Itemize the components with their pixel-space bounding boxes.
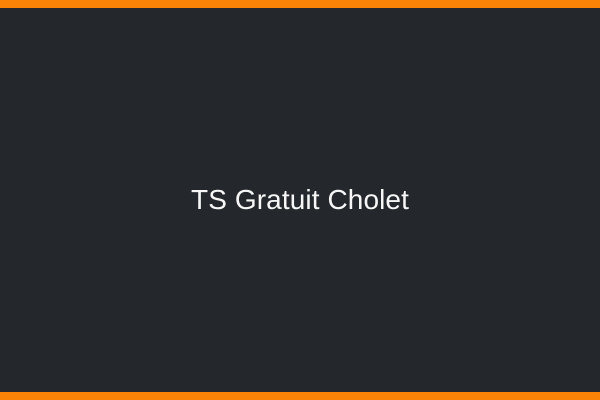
top-accent-bar bbox=[0, 0, 600, 8]
placeholder-card: TS Gratuit Cholet bbox=[0, 0, 600, 400]
page-title: TS Gratuit Cholet bbox=[175, 183, 425, 217]
bottom-accent-bar bbox=[0, 392, 600, 400]
card-body: TS Gratuit Cholet bbox=[0, 8, 600, 392]
